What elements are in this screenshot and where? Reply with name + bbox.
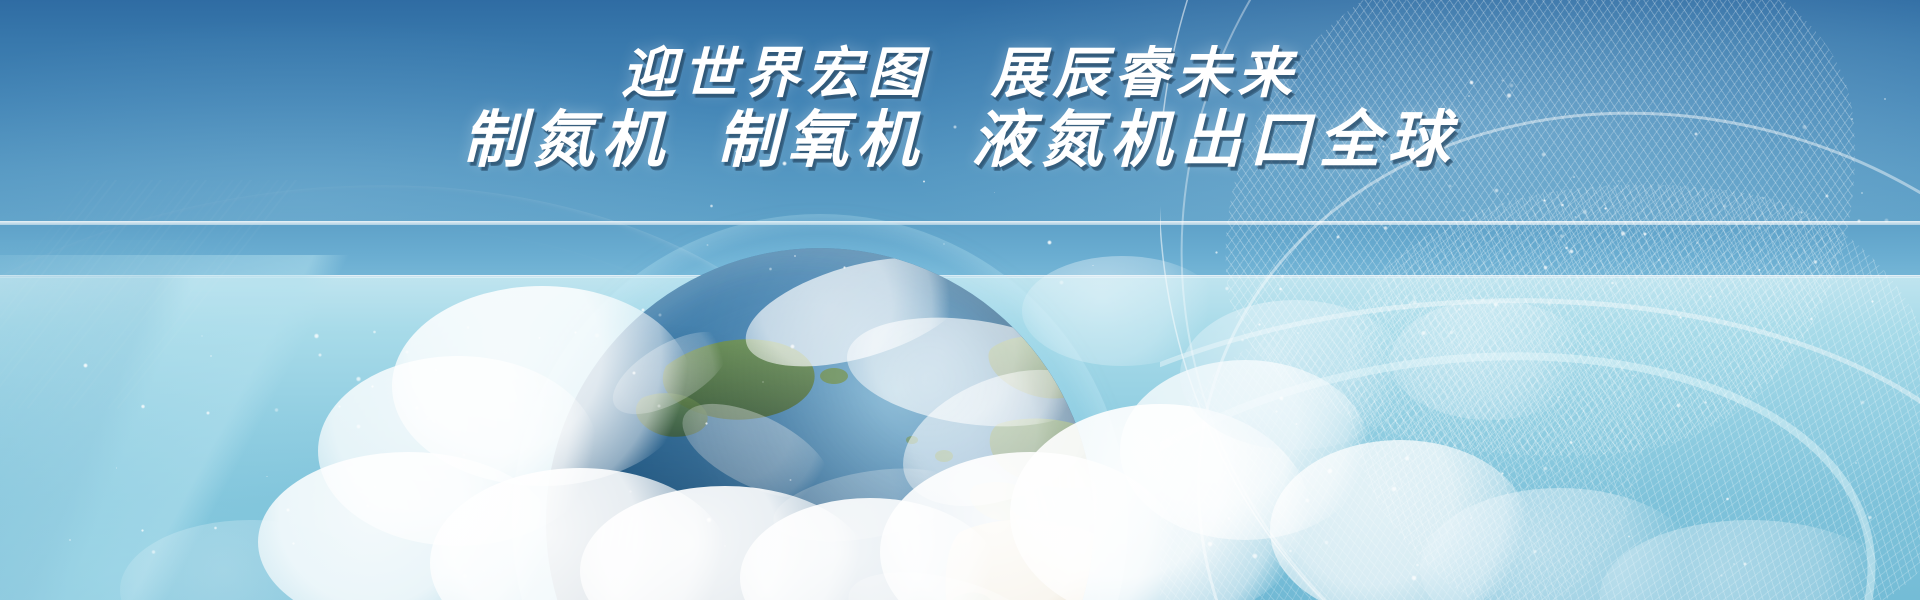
headline-line-2: 制氮机 制氧机 液氮机出口全球 — [0, 110, 1920, 173]
promo-banner: 迎世界宏图 展辰睿未来 制氮机 制氧机 液氮机出口全球 — [0, 0, 1920, 600]
earth-globe — [546, 248, 1094, 600]
headline-line-1: 迎世界宏图 展辰睿未来 — [0, 46, 1920, 102]
headline: 迎世界宏图 展辰睿未来 制氮机 制氧机 液氮机出口全球 — [0, 46, 1920, 173]
sparkle — [994, 192, 996, 194]
sparkle — [923, 180, 926, 183]
